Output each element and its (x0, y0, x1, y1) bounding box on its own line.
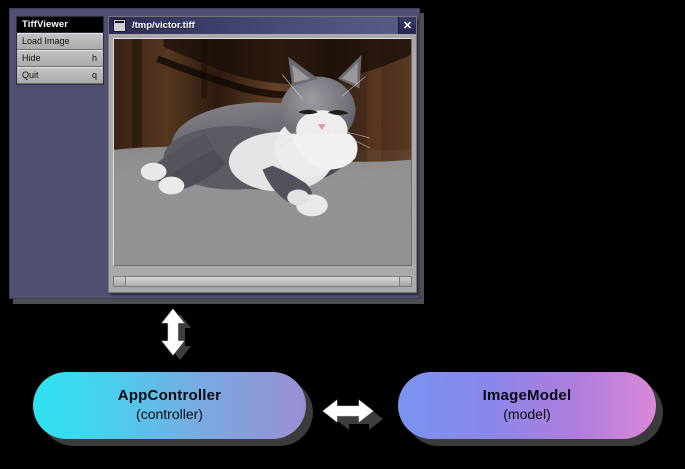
scroll-right-button[interactable] (399, 277, 411, 286)
menu-item-accelerator: h (92, 53, 98, 64)
window-title: /tmp/victor.tiff (132, 20, 195, 31)
cat-photo (114, 39, 411, 265)
node-title: AppController (118, 388, 221, 405)
menu-item-quit[interactable]: Quit q (17, 67, 103, 84)
connector-gui-to-controller (153, 307, 199, 365)
image-canvas-area (109, 34, 416, 292)
connector-controller-to-model (320, 396, 384, 438)
node-app-controller[interactable]: AppController (controller) (33, 372, 306, 439)
window-titlebar[interactable]: /tmp/victor.tiff ✕ (109, 17, 416, 35)
node-subtitle: (controller) (136, 407, 203, 423)
menu-item-label: Quit (22, 70, 39, 81)
horizontal-scrollbar[interactable] (113, 276, 412, 287)
window-icon[interactable] (113, 19, 126, 32)
close-icon[interactable]: ✕ (398, 17, 416, 34)
scrollbar-thumb[interactable] (126, 277, 399, 286)
node-subtitle: (model) (503, 407, 550, 423)
node-title: ImageModel (483, 388, 572, 405)
desktop-screenshot-region: TiffViewer Load Image Hide h Quit q /tmp… (9, 8, 420, 299)
node-image-model[interactable]: ImageModel (model) (398, 372, 656, 439)
image-viewer-window: /tmp/victor.tiff ✕ (108, 16, 417, 293)
menu-item-label: Hide (22, 53, 41, 64)
photo-frame (113, 38, 412, 266)
menu-item-accelerator: q (92, 70, 98, 81)
menu-item-label: Load Image (22, 36, 70, 47)
menu-item-hide[interactable]: Hide h (17, 50, 103, 67)
menu-item-load-image[interactable]: Load Image (17, 33, 103, 50)
menu-title: TiffViewer (17, 17, 103, 33)
scroll-left-button[interactable] (114, 277, 126, 286)
tiffviewer-menu-panel: TiffViewer Load Image Hide h Quit q (16, 16, 104, 85)
